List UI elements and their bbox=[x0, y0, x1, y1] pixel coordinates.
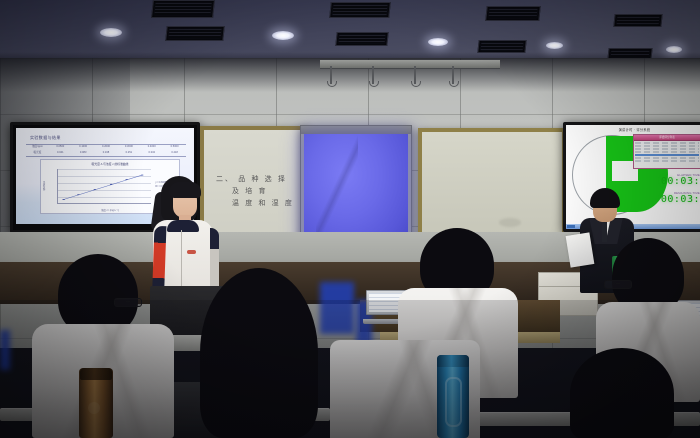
list-item[interactable] bbox=[635, 151, 699, 153]
table-cell: 0.334 bbox=[140, 152, 163, 155]
table-cell: 0.083 bbox=[72, 152, 95, 155]
rail-hook bbox=[452, 66, 454, 84]
bottle-strap-loop bbox=[445, 377, 462, 427]
ceiling-downlight bbox=[546, 42, 563, 49]
water-bottle bbox=[437, 355, 469, 438]
table-column: 0.1000 0.083 bbox=[72, 145, 95, 156]
projection-screen-header bbox=[301, 126, 411, 134]
list-item-selected[interactable] bbox=[635, 154, 699, 156]
table-column: 0.4000 0.334 bbox=[140, 145, 163, 156]
eyeglasses bbox=[604, 280, 632, 289]
dialog-list[interactable] bbox=[634, 141, 700, 164]
whiteboard-blank[interactable] bbox=[418, 128, 566, 244]
whiteboard-line: 及 培 育 bbox=[232, 186, 267, 196]
table-row-label: 吸光度 bbox=[26, 152, 49, 155]
thermos-cap bbox=[80, 368, 112, 380]
jacket-collar bbox=[167, 220, 199, 232]
list-item[interactable] bbox=[635, 148, 699, 150]
head bbox=[570, 348, 674, 438]
jacket-logo bbox=[187, 250, 196, 254]
list-item[interactable] bbox=[635, 145, 699, 147]
table-cell: 0.1000 bbox=[72, 146, 95, 149]
table-cell: 0.2000 bbox=[95, 146, 118, 149]
ceiling-vent bbox=[613, 14, 662, 27]
whiteboard-line: 二、 品 种 选 择 bbox=[216, 174, 287, 184]
dialog-title: 评委评分列表 bbox=[634, 135, 700, 140]
elapsed-timer: ELAPSED TIME 00:03: bbox=[661, 173, 700, 188]
slide-title: 实验数据与结果 bbox=[30, 135, 61, 141]
chart-title: 吸光度 A 与浓度 c 的标准曲线 bbox=[41, 162, 179, 166]
rail-hook bbox=[330, 66, 332, 84]
chart-plot-area bbox=[57, 169, 151, 204]
hair-bangs bbox=[169, 182, 201, 198]
whiteboard-line: 温 度 和 湿 度 bbox=[232, 198, 294, 208]
table-column: 0.5000 0.418 bbox=[163, 145, 186, 156]
ceiling-downlight bbox=[100, 28, 122, 37]
audience-member bbox=[186, 268, 330, 438]
list-item[interactable] bbox=[635, 160, 699, 162]
ceiling-downlight bbox=[428, 38, 448, 46]
audience-member bbox=[560, 348, 680, 438]
ceiling-vent bbox=[165, 26, 225, 41]
ceiling-vent bbox=[335, 32, 388, 46]
held-papers bbox=[566, 232, 595, 267]
rail-hook bbox=[372, 66, 374, 84]
thermos-flask bbox=[79, 368, 113, 438]
whiteboard-smudge bbox=[499, 218, 521, 227]
slide-data-table: 浓度/ppm 吸光度 0.0500 0.041 0.1000 0.083 0.2… bbox=[26, 144, 186, 157]
table-column: 0.3000 0.251 bbox=[117, 145, 140, 156]
elapsed-timer-value: 00:03: bbox=[661, 177, 700, 188]
table-cell: 0.5000 bbox=[163, 146, 186, 149]
app-title: 演讲计时 · 评分系统 bbox=[566, 127, 700, 132]
thermos-badge bbox=[88, 402, 100, 414]
bottle-cap bbox=[437, 355, 469, 367]
remaining-timer-value: 00:03: bbox=[661, 195, 700, 206]
ceiling-vent bbox=[329, 2, 391, 18]
screen-glow bbox=[0, 330, 10, 370]
table-row-label: 浓度/ppm bbox=[26, 146, 49, 149]
rail-hook bbox=[414, 66, 416, 84]
classroom-presentation-photo: 实验数据与结果 浓度/ppm 吸光度 0.0500 0.041 0.1000 0… bbox=[0, 0, 700, 438]
table-cell: 0.0500 bbox=[49, 146, 72, 149]
table-row-labels: 浓度/ppm 吸光度 bbox=[26, 145, 49, 156]
start-button[interactable] bbox=[567, 225, 575, 228]
table-column: 0.2000 0.168 bbox=[95, 145, 118, 156]
list-item[interactable] bbox=[635, 157, 699, 159]
table-cell: 0.3000 bbox=[117, 146, 140, 149]
table-cell: 0.418 bbox=[163, 152, 186, 155]
table-cell: 0.168 bbox=[95, 152, 118, 155]
screen-mount-rail bbox=[320, 60, 500, 69]
table-cell: 0.251 bbox=[117, 152, 140, 155]
list-item[interactable] bbox=[635, 142, 699, 144]
head bbox=[200, 268, 318, 438]
eyeglasses bbox=[114, 298, 142, 307]
hair bbox=[590, 188, 620, 208]
remaining-timer: REMAINING TIME 00:03: bbox=[661, 191, 700, 206]
ceiling-vent bbox=[485, 6, 541, 21]
ceiling-vent bbox=[477, 40, 526, 53]
ceiling-downlight bbox=[272, 31, 294, 40]
table-cell: 0.041 bbox=[49, 152, 72, 155]
table-column: 0.0500 0.041 bbox=[49, 145, 72, 156]
table-cell: 0.4000 bbox=[140, 146, 163, 149]
chart-y-axis-label: 吸光度 A bbox=[43, 181, 47, 190]
chart-trendline bbox=[62, 174, 144, 201]
ceiling-downlight bbox=[666, 46, 682, 53]
score-list-dialog[interactable]: 评委评分列表 bbox=[633, 134, 700, 169]
ceiling-vent bbox=[151, 0, 215, 18]
